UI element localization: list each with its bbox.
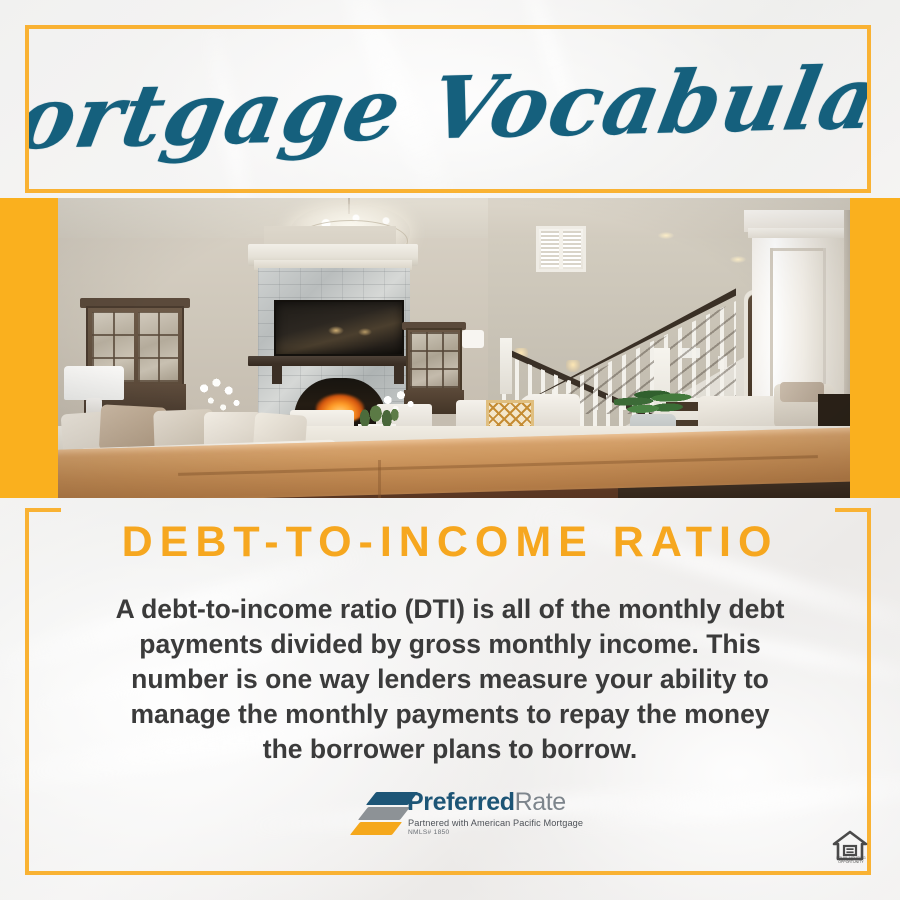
title-panel: Mortgage Vocabulary (29, 29, 867, 189)
logo-nmls-id: NMLS# 1850 (408, 829, 450, 836)
logo-mark-icon (355, 790, 413, 840)
logo-word-rate: Rate (515, 788, 566, 816)
frame-segment-right (835, 508, 871, 512)
definition-text: A debt-to-income ratio (DTI) is all of t… (108, 592, 792, 767)
equal-housing-label: EQUAL HOUSING OPPORTUNITY (829, 856, 873, 864)
interior-photo (58, 198, 850, 498)
logo-bar-amber (350, 822, 402, 835)
term-heading: DEBT-TO-INCOME RATIO (0, 518, 900, 567)
logo-bar-gray (358, 807, 410, 820)
page-title: Mortgage Vocabulary (29, 53, 867, 165)
mortgage-vocabulary-poster: Mortgage Vocabulary (0, 0, 900, 900)
equal-housing-line2: OPPORTUNITY (838, 860, 864, 864)
orange-band-right (850, 198, 900, 498)
orange-band-left (0, 198, 58, 498)
logo-wordmark: PreferredRate (407, 790, 566, 815)
preferred-rate-logo[interactable]: PreferredRate Partnered with American Pa… (355, 788, 567, 844)
logo-word-preferred: Preferred (407, 788, 515, 816)
frame-segment-left (25, 508, 61, 512)
logo-tagline: Partnered with American Pacific Mortgage (408, 818, 583, 828)
photo-vignette (58, 198, 850, 498)
